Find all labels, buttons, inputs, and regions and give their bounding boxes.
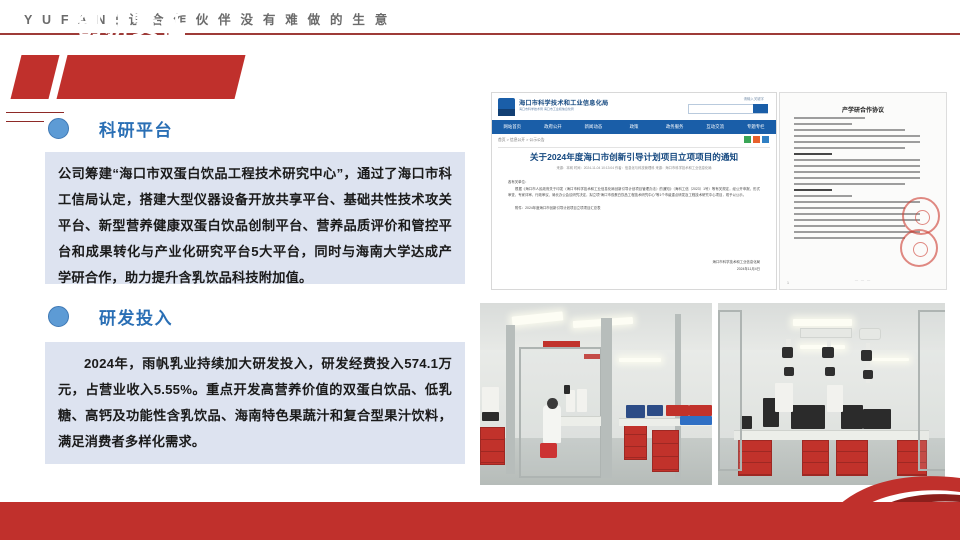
gov-nav-item-0[interactable]: 网站首页 bbox=[492, 124, 533, 130]
section-heading-2: 研发投入 bbox=[99, 304, 173, 329]
extraction-arm-head bbox=[782, 347, 793, 358]
gov-nav-item-4[interactable]: 政务服务 bbox=[654, 124, 695, 130]
page-footer bbox=[0, 502, 960, 540]
gov-site-topbar: 海口市科学技术和工业信息化局 海口市科学技术局 海口市工业和信息化局 请输入关键… bbox=[492, 93, 776, 120]
red-cabinet bbox=[836, 440, 868, 477]
gov-body-paragraph-2: 附件：2024年度海口市创新引导计划项目立项项目汇总表 bbox=[508, 205, 760, 212]
extraction-arm-head bbox=[863, 370, 873, 379]
gov-nav-item-6[interactable]: 专题专栏 bbox=[735, 124, 776, 130]
lab-instrument bbox=[482, 387, 498, 412]
banner-title: 创新责任 bbox=[76, 10, 256, 42]
agreement-line bbox=[794, 195, 852, 197]
lab-instrument bbox=[482, 412, 498, 421]
lab-instrument bbox=[863, 409, 890, 429]
glass-partition bbox=[718, 310, 742, 471]
agreement-line bbox=[794, 207, 905, 209]
sidebar-item-research-platform: 科研平台 bbox=[48, 116, 173, 141]
lab-cleanroom-photo bbox=[480, 303, 712, 485]
gov-signature-block: 海口市科学技术和工业信息化局 2024年11月4日 bbox=[713, 259, 760, 273]
red-cabinet bbox=[802, 440, 829, 477]
gov-org-title: 海口市科学技术和工业信息化局 bbox=[519, 98, 608, 107]
gov-share-icons[interactable] bbox=[744, 136, 769, 143]
gov-website-screenshot: 海口市科学技术和工业信息化局 海口市科学技术局 海口市工业和信息化局 请输入关键… bbox=[491, 92, 777, 290]
sidebar-item-rd-investment: 研发投入 bbox=[48, 304, 173, 329]
gov-signature-org: 海口市科学技术和工业信息化局 bbox=[713, 259, 760, 266]
ventilation-duct bbox=[800, 328, 852, 337]
agreement-line bbox=[794, 135, 920, 137]
gov-search-button[interactable] bbox=[753, 104, 768, 113]
agreement-line-party-a bbox=[794, 117, 865, 119]
agreement-line bbox=[794, 237, 905, 239]
ceiling-lamp bbox=[793, 319, 852, 325]
agreement-footer-mark: — — — bbox=[780, 278, 946, 282]
agreement-line bbox=[794, 177, 920, 179]
breadcrumb: 首页 > 信息公开 > 公示公告 bbox=[498, 138, 545, 143]
red-cabinet bbox=[652, 430, 680, 472]
agreement-line bbox=[794, 219, 920, 221]
gov-org-subtitle: 海口市科学技术局 海口市工业和信息化局 bbox=[519, 107, 574, 111]
glass-partition bbox=[918, 310, 945, 471]
lab-instrument bbox=[564, 385, 571, 394]
agreement-line bbox=[794, 159, 920, 161]
decorative-rule-short bbox=[6, 121, 44, 122]
agreement-section-head bbox=[794, 189, 832, 191]
agreement-line bbox=[794, 183, 905, 185]
gov-nav-item-5[interactable]: 互动交流 bbox=[695, 124, 736, 130]
lab-instrument bbox=[775, 383, 793, 412]
section-body-text-1: 公司筹建“海口市双蛋白饮品工程技术研究中心”，通过了海口市科工信局认定，搭建大型… bbox=[58, 161, 452, 291]
banner-plate bbox=[57, 55, 246, 99]
ceiling bbox=[718, 303, 945, 350]
font-size-icon[interactable] bbox=[762, 136, 769, 143]
red-stool bbox=[540, 443, 556, 458]
blue-crate bbox=[626, 405, 645, 418]
gov-nav-bar[interactable]: 网站首页 政府公开 新闻动态 政策 政务服务 互动交流 专题专栏 bbox=[492, 120, 776, 134]
red-cabinet bbox=[480, 427, 505, 465]
red-crate bbox=[666, 405, 689, 416]
red-cabinet bbox=[738, 440, 772, 477]
print-icon[interactable] bbox=[753, 136, 760, 143]
agreement-line bbox=[794, 165, 920, 167]
decorative-rule-long bbox=[6, 112, 64, 113]
section-body-panel-2: 2024年，雨帆乳业持续加大研发投入，研发经费投入574.1万元，占营业收入5.… bbox=[45, 342, 465, 464]
section-body-text-2: 2024年，雨帆乳业持续加大研发投入，研发经费投入574.1万元，占营业收入5.… bbox=[58, 351, 452, 455]
gov-emblem-base-icon bbox=[498, 109, 515, 116]
agreement-line bbox=[794, 147, 905, 149]
blue-crate bbox=[680, 416, 712, 425]
agreement-line bbox=[794, 141, 920, 143]
ceiling-lamp bbox=[619, 358, 661, 363]
lab-instrument bbox=[791, 405, 825, 429]
extraction-arm-head bbox=[822, 347, 833, 358]
banner-accent-chip bbox=[11, 55, 60, 99]
gov-body-salutation: 各有关单位： bbox=[508, 180, 528, 184]
extraction-arm-head bbox=[861, 350, 872, 361]
lab-instrument bbox=[577, 389, 586, 413]
agreement-section-head bbox=[794, 153, 832, 155]
extraction-arm-head bbox=[784, 367, 794, 376]
section-banner bbox=[0, 53, 300, 101]
gov-nav-item-3[interactable]: 政策 bbox=[614, 124, 655, 130]
agreement-line bbox=[794, 231, 920, 233]
agreement-text-lines bbox=[794, 117, 920, 243]
agreement-document-screenshot: 产学研合作协议 1 — — — bbox=[779, 92, 947, 290]
blue-crate bbox=[647, 405, 663, 416]
section-heading-1: 科研平台 bbox=[99, 116, 173, 141]
agreement-line-party-b bbox=[794, 123, 852, 125]
lab-instrument bbox=[827, 385, 843, 412]
blue-circle-bullet-icon bbox=[48, 306, 69, 327]
door-post bbox=[601, 318, 613, 478]
ventilation-duct bbox=[859, 328, 881, 339]
agreement-line bbox=[794, 129, 905, 131]
blue-circle-bullet-icon bbox=[48, 118, 69, 139]
red-cabinet bbox=[624, 423, 647, 460]
gov-nav-item-2[interactable]: 新闻动态 bbox=[573, 124, 614, 130]
gov-body-paragraph-1: 根据《海口市人民政府关于印发〈海口市科学技术和工业信息化局创新引导计划项目管理办… bbox=[508, 186, 760, 199]
agreement-line bbox=[794, 225, 905, 227]
wechat-share-icon[interactable] bbox=[744, 136, 751, 143]
section-body-panel-1: 公司筹建“海口市双蛋白饮品工程技术研究中心”，通过了海口市科工信局认定，搭建大型… bbox=[45, 152, 465, 284]
gov-document-meta: 来源：本网 时间：2024-11-04 10:13:04 作者：信息化与科技管理… bbox=[492, 165, 776, 170]
ceiling-lamp bbox=[872, 358, 908, 362]
gov-nav-item-1[interactable]: 政府公开 bbox=[533, 124, 574, 130]
gov-document-title: 关于2024年度海口市创新引导计划项目立项项目的通知 bbox=[492, 151, 776, 163]
lab-technician bbox=[543, 405, 562, 443]
door-post bbox=[506, 325, 515, 474]
agreement-line bbox=[794, 201, 920, 203]
agreement-line bbox=[794, 171, 920, 173]
gov-divider bbox=[498, 147, 770, 148]
agreement-title: 产学研合作协议 bbox=[780, 105, 946, 114]
lab-instruments-photo bbox=[718, 303, 945, 485]
extraction-arm-head bbox=[825, 367, 835, 376]
technician-head bbox=[547, 398, 557, 409]
lab-instrument bbox=[841, 405, 864, 429]
official-seal-icon bbox=[900, 229, 938, 267]
gov-signature-date: 2024年11月4日 bbox=[713, 266, 760, 273]
gov-search-placeholder: 请输入关键字 bbox=[744, 96, 764, 101]
red-crate bbox=[689, 405, 712, 416]
gov-document-body: 各有关单位： 根据《海口市人民政府关于印发〈海口市科学技术和工业信息化局创新引导… bbox=[508, 179, 760, 211]
